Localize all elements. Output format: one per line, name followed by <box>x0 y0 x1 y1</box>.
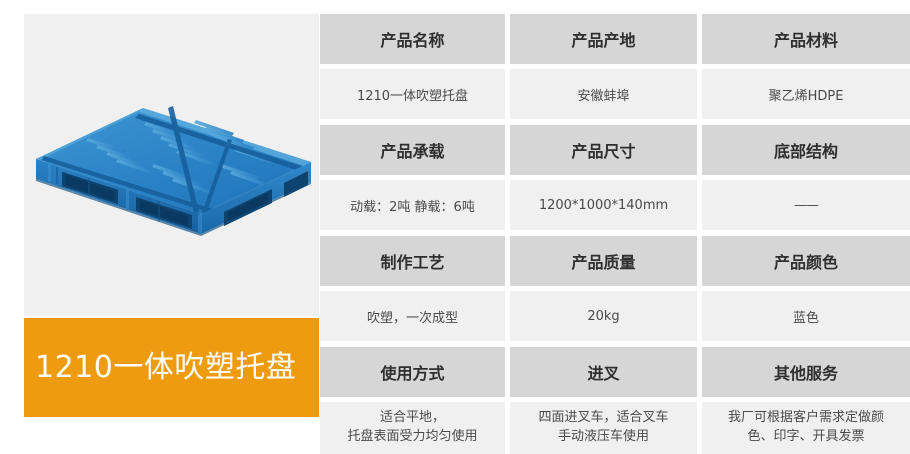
spec-header-load-capacity: 产品承载 <box>320 125 505 175</box>
spec-header-dimensions: 产品尺寸 <box>510 125 697 175</box>
spec-value-manufacturing-process: 吹塑，一次成型 <box>320 291 505 341</box>
spec-value-fork-entry: 四面进叉车，适合叉车 手动液压车使用 <box>510 402 697 454</box>
product-name-banner-text: 1210一体吹塑托盘 <box>24 353 296 383</box>
spec-value-usage-method: 适合平地， 托盘表面受力均匀使用 <box>320 402 505 454</box>
spec-value-fork-entry-line1: 四面进叉车，适合叉车 <box>538 409 668 428</box>
spec-value-dimensions: 1200*1000*140mm <box>510 180 697 230</box>
spec-value-bottom-structure: —— <box>702 180 910 230</box>
spec-header-usage-method: 使用方式 <box>320 347 505 397</box>
spec-header-product-weight: 产品质量 <box>510 236 697 286</box>
spec-value-product-weight: 20kg <box>510 291 697 341</box>
spec-header-manufacturing-process: 制作工艺 <box>320 236 505 286</box>
spec-value-product-color: 蓝色 <box>702 291 910 341</box>
spec-value-row: 1210一体吹塑托盘 安徽蚌埠 聚乙烯HDPE <box>320 69 910 119</box>
spec-value-other-services-line1: 我厂可根据客户需求定做颜 <box>728 409 884 428</box>
spec-value-row: 动载：2吨 静载：6吨 1200*1000*140mm —— <box>320 180 910 230</box>
spec-header-fork-entry: 进叉 <box>510 347 697 397</box>
product-image-panel <box>24 14 319 316</box>
product-spec-table: 产品名称 产品产地 产品材料 1210一体吹塑托盘 安徽蚌埠 聚乙烯HDPE 产… <box>320 14 910 417</box>
spec-value-product-material: 聚乙烯HDPE <box>702 69 910 119</box>
spec-header-row: 产品名称 产品产地 产品材料 <box>320 14 910 64</box>
spec-header-row: 产品承载 产品尺寸 底部结构 <box>320 125 910 175</box>
product-name-banner: 1210一体吹塑托盘 <box>24 318 319 417</box>
spec-value-other-services: 我厂可根据客户需求定做颜 色、印字、开具发票 <box>702 402 910 454</box>
spec-header-row: 制作工艺 产品质量 产品颜色 <box>320 236 910 286</box>
spec-header-other-services: 其他服务 <box>702 347 910 397</box>
spec-header-product-material: 产品材料 <box>702 14 910 64</box>
blue-plastic-pallet-image <box>26 102 318 247</box>
spec-header-product-name: 产品名称 <box>320 14 505 64</box>
spec-value-product-origin: 安徽蚌埠 <box>510 69 697 119</box>
spec-value-row: 适合平地， 托盘表面受力均匀使用 四面进叉车，适合叉车 手动液压车使用 我厂可根… <box>320 402 910 454</box>
spec-header-product-color: 产品颜色 <box>702 236 910 286</box>
spec-header-product-origin: 产品产地 <box>510 14 697 64</box>
spec-value-usage-method-line1: 适合平地， <box>347 409 477 428</box>
spec-value-load-capacity: 动载：2吨 静载：6吨 <box>320 180 505 230</box>
spec-header-bottom-structure: 底部结构 <box>702 125 910 175</box>
spec-value-row: 吹塑，一次成型 20kg 蓝色 <box>320 291 910 341</box>
spec-header-row: 使用方式 进叉 其他服务 <box>320 347 910 397</box>
spec-value-product-name: 1210一体吹塑托盘 <box>320 69 505 119</box>
